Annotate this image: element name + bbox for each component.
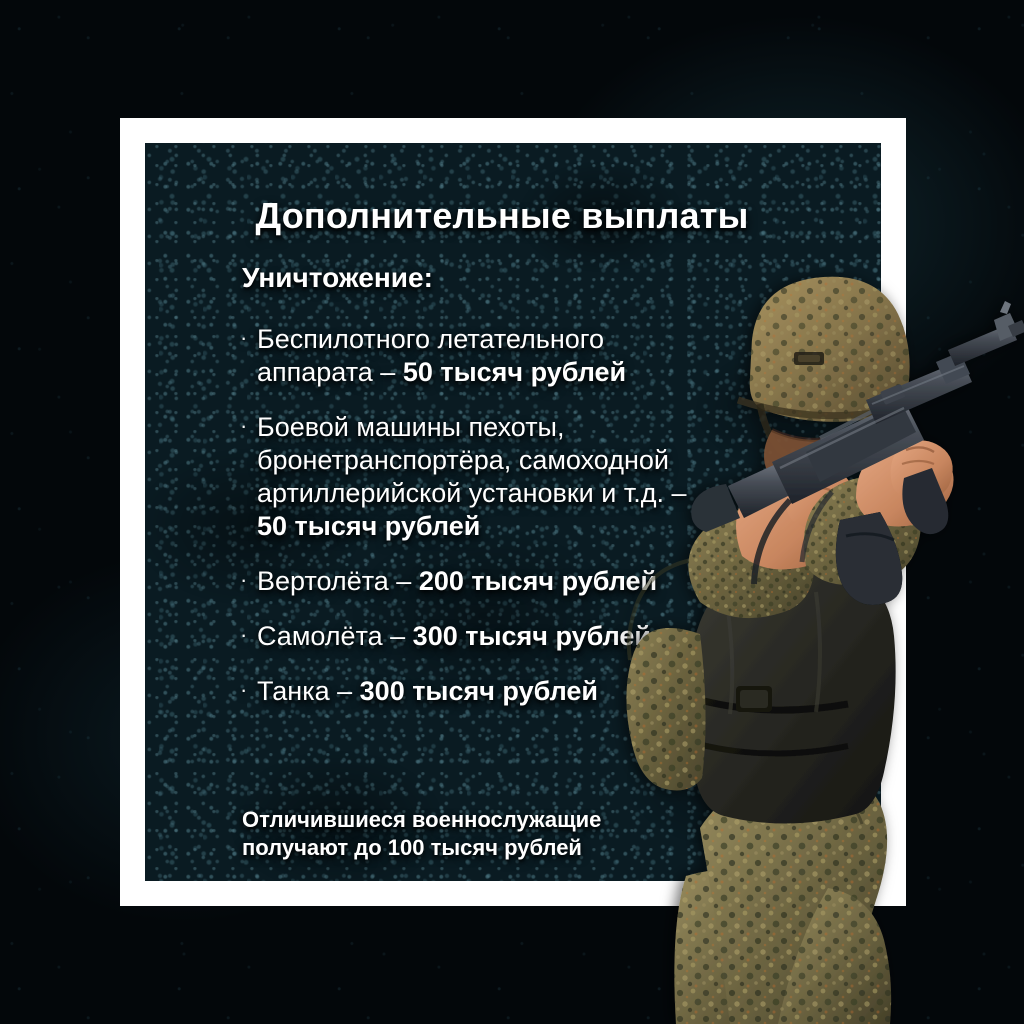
list-item: · Вертолёта – 200 тысяч рублей [240, 565, 841, 598]
list-item-text: Самолёта – 300 тысяч рублей [257, 620, 841, 653]
poster: Дополнительные выплаты Уничтожение: · Бе… [0, 0, 1024, 1024]
list-item-line: артиллерийской установки и т.д. – [257, 478, 686, 508]
list-item-line: аппарата – [257, 357, 403, 387]
footer-line: получают до 100 тысяч рублей [242, 835, 582, 860]
payout-list: · Беспилотного летательного аппарата – 5… [240, 323, 841, 729]
list-item-text: Боевой машины пехоты, бронетранспортёра,… [257, 411, 841, 543]
list-item-line: Беспилотного летательного [257, 324, 604, 354]
list-item: · Беспилотного летательного аппарата – 5… [240, 323, 841, 389]
list-item-text: Беспилотного летательного аппарата – 50 … [257, 323, 841, 389]
payout-amount: 300 тысяч рублей [360, 676, 598, 706]
bullet-marker: · [240, 620, 257, 649]
list-item-text: Танка – 300 тысяч рублей [257, 675, 841, 708]
list-item-line: бронетранспортёра, самоходной [257, 445, 669, 475]
bullet-marker: · [240, 675, 257, 704]
payout-amount: 50 тысяч рублей [403, 357, 626, 387]
payout-amount: 50 тысяч рублей [257, 511, 480, 541]
payout-amount: 200 тысяч рублей [419, 566, 657, 596]
page-title: Дополнительные выплаты [145, 195, 881, 237]
list-item-line: Танка – [257, 676, 360, 706]
bullet-marker: · [240, 565, 257, 594]
bullet-marker: · [240, 323, 257, 352]
list-item: · Танка – 300 тысяч рублей [240, 675, 841, 708]
footer-note: Отличившиеся военнослужащие получают до … [242, 806, 731, 862]
white-frame: Дополнительные выплаты Уничтожение: · Бе… [120, 118, 906, 906]
payout-amount: 300 тысяч рублей [413, 621, 651, 651]
list-item-text: Вертолёта – 200 тысяч рублей [257, 565, 841, 598]
list-item-line: Вертолёта – [257, 566, 419, 596]
footer-line: Отличившиеся военнослужащие [242, 807, 601, 832]
poster-content: Дополнительные выплаты Уничтожение: · Бе… [145, 143, 881, 881]
section-subtitle: Уничтожение: [242, 262, 433, 294]
list-item-line: Боевой машины пехоты, [257, 412, 564, 442]
list-item-line: Самолёта – [257, 621, 413, 651]
bullet-marker: · [240, 411, 257, 440]
list-item: · Боевой машины пехоты, бронетранспортёр… [240, 411, 841, 543]
list-item: · Самолёта – 300 тысяч рублей [240, 620, 841, 653]
